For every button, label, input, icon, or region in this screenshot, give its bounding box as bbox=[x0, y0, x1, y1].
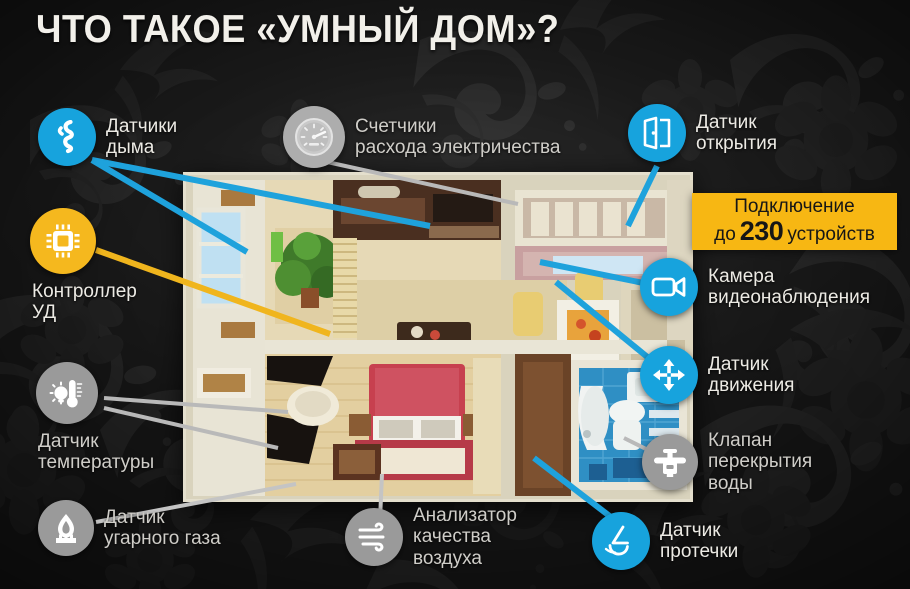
connection-capacity-badge: Подключение до 230 устройств bbox=[692, 193, 897, 250]
apartment-floorplan-image bbox=[183, 172, 693, 502]
promo-number: 230 bbox=[740, 217, 784, 245]
callout-leak-sensor[interactable]: Датчик протечки bbox=[592, 512, 738, 570]
callout-controller[interactable]: Контроллер УД bbox=[30, 208, 137, 324]
chip-icon bbox=[30, 208, 96, 274]
smoke-icon bbox=[38, 108, 96, 166]
callout-door-open-sensor[interactable]: Датчик открытия bbox=[628, 104, 777, 162]
promo-suffix: устройств bbox=[787, 225, 875, 245]
callout-label: Камера видеонаблюдения bbox=[708, 266, 870, 309]
callout-label: Датчик открытия bbox=[696, 112, 777, 155]
floorplan-render bbox=[183, 172, 693, 502]
page-title: ЧТО ТАКОЕ «УМНЫЙ ДОМ»? bbox=[36, 8, 559, 52]
callout-label: Анализатор качества воздуха bbox=[413, 505, 517, 569]
open-door-icon bbox=[628, 104, 686, 162]
callout-label: Контроллер УД bbox=[30, 281, 137, 324]
wind-icon bbox=[345, 508, 403, 566]
faucet-icon bbox=[642, 434, 698, 490]
promo-prefix: до bbox=[714, 225, 736, 245]
callout-label: Клапан перекрытия воды bbox=[708, 430, 812, 494]
gauge-icon bbox=[283, 106, 345, 168]
callout-label: Датчик угарного газа bbox=[104, 507, 221, 550]
water-drop-icon bbox=[592, 512, 650, 570]
callout-smoke-sensor[interactable]: Датчики дыма bbox=[38, 108, 177, 166]
thermometer-icon bbox=[36, 362, 98, 424]
callout-air-quality-analyzer[interactable]: Анализатор качества воздуха bbox=[345, 505, 517, 569]
four-arrows-icon bbox=[640, 346, 698, 404]
callout-carbon-monoxide-sensor[interactable]: Датчик угарного газа bbox=[38, 500, 221, 556]
callout-label: Датчик температуры bbox=[36, 431, 154, 474]
infographic-poster: ЧТО ТАКОЕ «УМНЫЙ ДОМ»? bbox=[0, 0, 910, 589]
callout-label: Датчики дыма bbox=[106, 116, 177, 159]
callout-label: Счетчики расхода электричества bbox=[355, 116, 560, 159]
callout-electricity-meter[interactable]: Счетчики расхода электричества bbox=[283, 106, 560, 168]
callout-video-camera[interactable]: Камера видеонаблюдения bbox=[640, 258, 870, 316]
callout-label: Датчик движения bbox=[708, 354, 794, 397]
callout-motion-sensor[interactable]: Датчик движения bbox=[640, 346, 794, 404]
callout-label: Датчик протечки bbox=[660, 520, 738, 563]
video-camera-icon bbox=[640, 258, 698, 316]
gas-flame-icon bbox=[38, 500, 94, 556]
promo-line1: Подключение bbox=[734, 197, 854, 217]
callout-water-shutoff-valve[interactable]: Клапан перекрытия воды bbox=[642, 430, 812, 494]
callout-temperature-sensor[interactable]: Датчик температуры bbox=[36, 362, 154, 474]
